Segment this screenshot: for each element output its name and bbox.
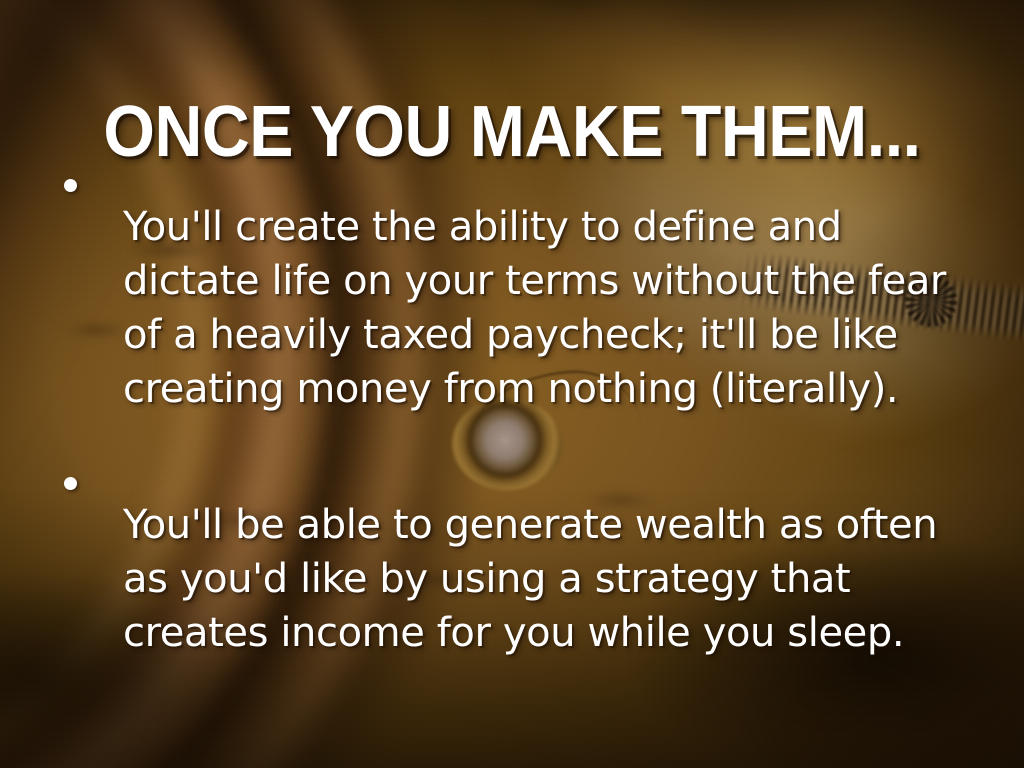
slide-content: ONCE YOU MAKE THEM... You'll create the …: [0, 0, 1024, 768]
bullet-text: You'll be able to generate wealth as oft…: [123, 498, 952, 660]
list-item: You'll create the ability to define and …: [52, 160, 952, 456]
bullet-text: You'll create the ability to define and …: [123, 200, 952, 416]
presentation-slide: ONCE YOU MAKE THEM... You'll create the …: [0, 0, 1024, 768]
slide-title: ONCE YOU MAKE THEM...: [41, 96, 983, 168]
list-item: You'll be able to generate wealth as oft…: [52, 458, 952, 700]
bullet-list: You'll create the ability to define and …: [52, 160, 952, 702]
bullet-dot-icon: [64, 179, 77, 192]
bullet-dot-icon: [64, 477, 77, 490]
